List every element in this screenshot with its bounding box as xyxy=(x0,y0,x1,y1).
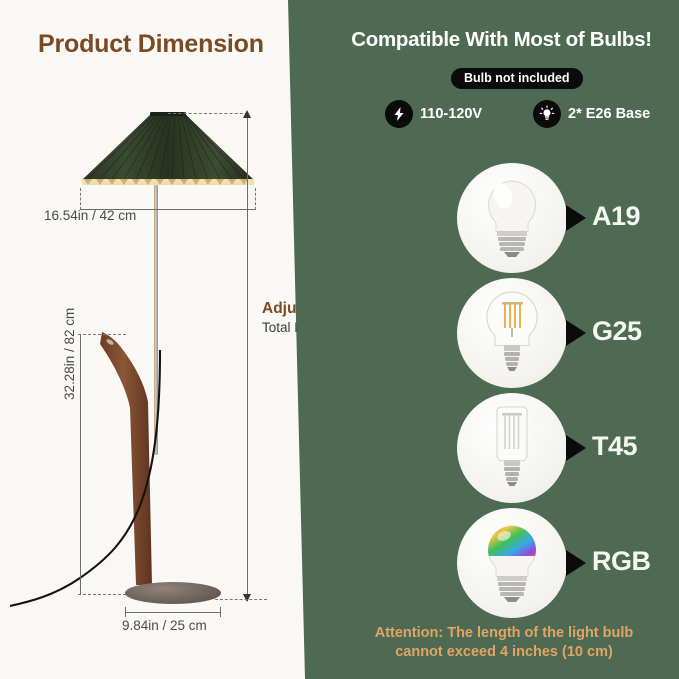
leg-height-line xyxy=(80,334,81,594)
shade-left-guide xyxy=(80,188,81,210)
total-height-arrow-bottom xyxy=(243,594,251,602)
attention-note: Attention: The length of the light bulb … xyxy=(339,624,669,662)
leg-top-guide xyxy=(78,334,126,335)
spec-voltage: 110-120V xyxy=(385,100,482,128)
lamp-shade xyxy=(78,110,258,188)
spec-base: 2* E26 Base xyxy=(533,100,650,128)
total-height-arrow xyxy=(247,113,248,601)
leg-height-label-wrap: 32.28in / 82 cm xyxy=(62,308,77,400)
a19-bulb-icon xyxy=(457,163,567,273)
spec-voltage-label: 110-120V xyxy=(420,106,482,122)
spec-row: 110-120V 2* E26 Base xyxy=(385,100,670,132)
bulb-label-rgb: RGB xyxy=(592,546,651,577)
compatibility-headline: Compatible With Most of Bulbs! xyxy=(329,28,674,52)
total-height-arrow-top xyxy=(243,110,251,118)
attention-line-1: Attention: The length of the light bulb xyxy=(339,624,669,643)
rgb-pointer-icon xyxy=(566,550,586,576)
shade-width-label: 16.54in / 42 cm xyxy=(44,208,136,223)
bulb-label-a19: A19 xyxy=(592,201,640,232)
power-cord xyxy=(10,350,170,615)
leg-bottom-guide xyxy=(78,594,126,595)
bulb-label-g25: G25 xyxy=(592,316,642,347)
base-width-label: 9.84in / 25 cm xyxy=(122,618,207,633)
t45-bulb-icon xyxy=(457,393,567,503)
base-width-tick-right xyxy=(220,607,221,617)
bulb-label-t45: T45 xyxy=(592,431,637,462)
base-width-line xyxy=(125,612,221,613)
base-width-tick-left xyxy=(125,607,126,617)
shade-right-guide xyxy=(255,188,256,210)
a19-pointer-icon xyxy=(566,205,586,231)
bulb-icon xyxy=(533,100,561,128)
g25-bulb-icon xyxy=(457,278,567,388)
t45-pointer-icon xyxy=(566,435,586,461)
shade-top-guide xyxy=(168,113,248,114)
g25-pointer-icon xyxy=(566,320,586,346)
spec-base-label: 2* E26 Base xyxy=(568,106,650,122)
bulb-not-included-badge: Bulb not included xyxy=(451,68,583,89)
infographic-canvas: Product Dimension xyxy=(0,0,679,679)
bolt-icon xyxy=(385,100,413,128)
lamp-illustration xyxy=(0,0,288,679)
base-level-guide xyxy=(215,599,267,600)
leg-height-label: 32.28in / 82 cm xyxy=(62,308,77,400)
rgb-bulb-icon xyxy=(457,508,567,618)
attention-line-2: cannot exceed 4 inches (10 cm) xyxy=(339,643,669,662)
